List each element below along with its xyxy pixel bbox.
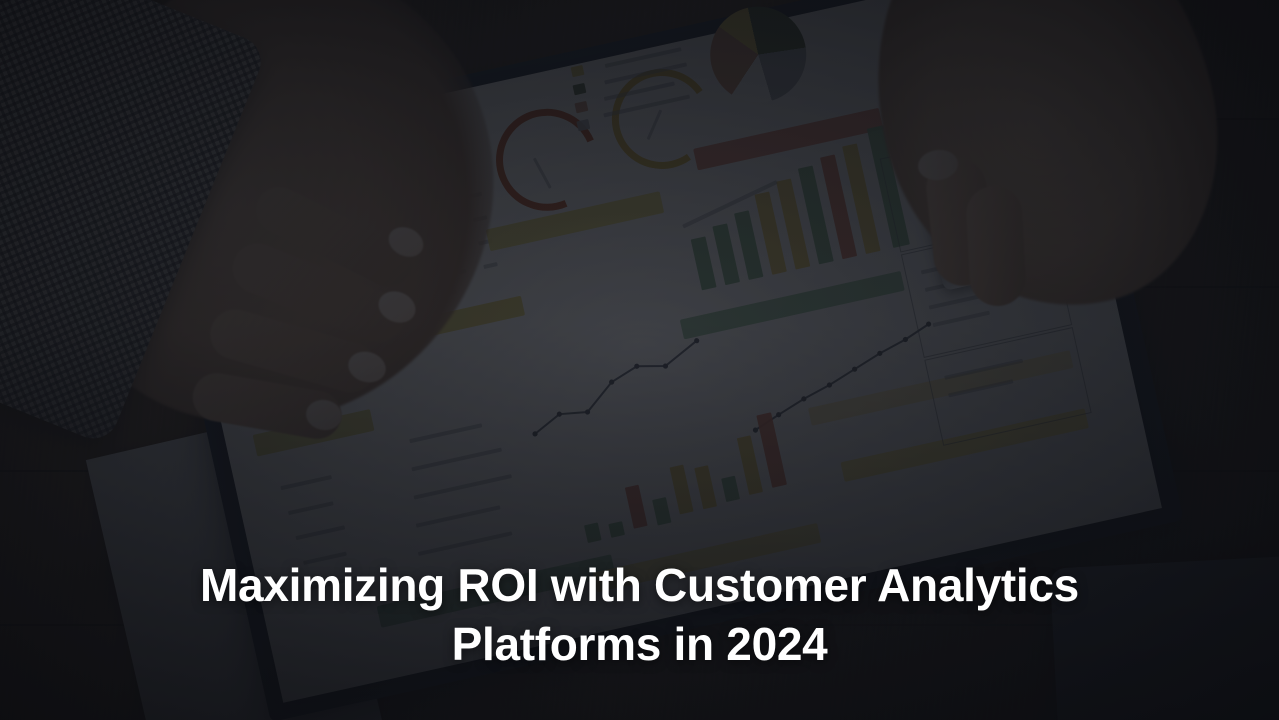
- hero-title-block: Maximizing ROI with Customer Analytics P…: [0, 556, 1279, 674]
- page-title-line-1: Maximizing ROI with Customer Analytics: [70, 556, 1209, 615]
- hero-banner: Maximizing ROI with Customer Analytics P…: [0, 0, 1279, 720]
- page-title: Maximizing ROI with Customer Analytics P…: [70, 556, 1209, 674]
- page-title-line-2: Platforms in 2024: [70, 615, 1209, 674]
